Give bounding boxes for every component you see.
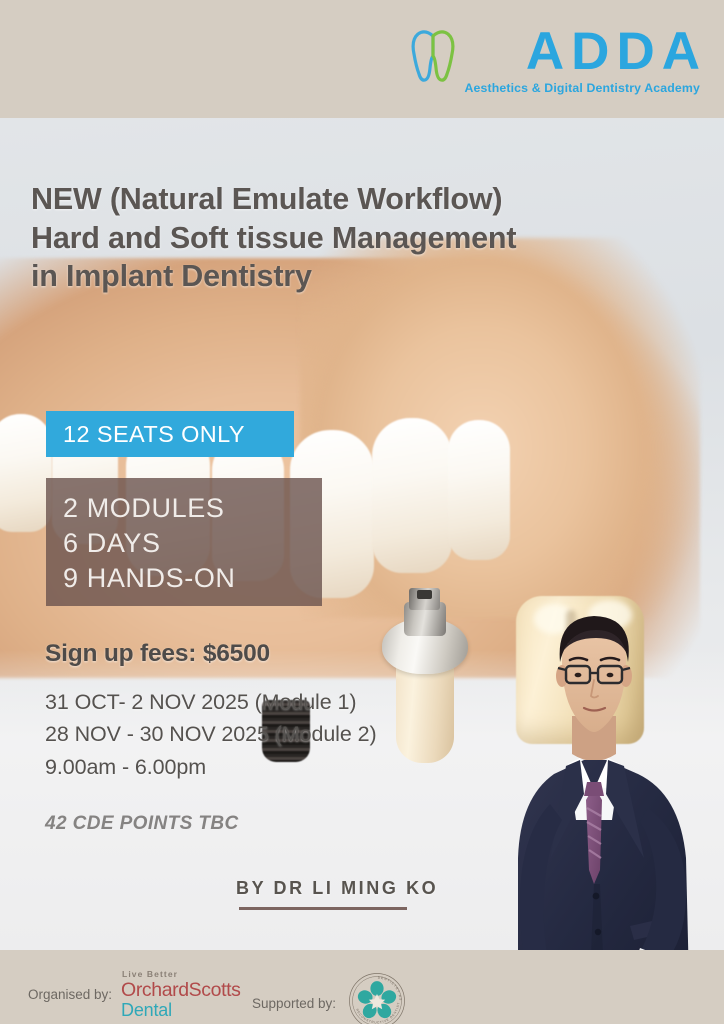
seats-badge-label: 12 SEATS ONLY [46, 421, 245, 448]
tooth-model [372, 418, 452, 573]
adda-logo: ADDA Aesthetics & Digital Dentistry Acad… [410, 26, 700, 95]
handson-count: 9 HANDS-ON [46, 561, 322, 596]
logo-tagline: Aesthetics & Digital Dentistry Academy [464, 81, 700, 95]
tooth-model [0, 414, 52, 532]
seats-badge: 12 SEATS ONLY [46, 411, 294, 457]
orchardscotts-name: OrchardScotts [121, 981, 240, 1001]
modules-count: 2 MODULES [46, 491, 322, 526]
footer-band: Organised by: Live Better OrchardScotts … [0, 950, 724, 1024]
organiser-block: Organised by: Live Better OrchardScotts … [28, 970, 240, 1019]
supporter-block: Supported by: DENTISTRY ASSOCIATION OF T… [252, 976, 406, 1024]
title-line-3: in Implant Dentistry [31, 257, 699, 296]
poster-canvas: ADDA Aesthetics & Digital Dentistry Acad… [0, 0, 724, 1024]
page-title: NEW (Natural Emulate Workflow) Hard and … [31, 180, 699, 296]
orchardscotts-logo: Live Better OrchardScotts Dental [121, 970, 240, 1019]
date-module-1: 31 OCT- 2 NOV 2025 (Module 1) [45, 686, 377, 718]
course-time: 9.00am - 6.00pm [45, 751, 377, 783]
title-line-2: Hard and Soft tissue Management [31, 219, 699, 258]
date-module-2: 28 NOV - 30 NOV 2025 (Module 2) [45, 718, 377, 750]
tooth-model [448, 420, 510, 560]
signup-fees: Sign up fees: $6500 [45, 640, 270, 668]
organised-by-label: Organised by: [28, 987, 112, 1002]
supported-by-label: Supported by: [252, 996, 336, 1011]
header-band: ADDA Aesthetics & Digital Dentistry Acad… [0, 0, 724, 118]
abutment-screw-hole [417, 590, 432, 599]
flower-seal-icon: DENTISTRY ASSOCIATION OF TAIWAN RECONSTR… [348, 972, 406, 1024]
presenter-name: BY DR LI MING KO [236, 878, 438, 899]
tooth-icon [410, 28, 456, 84]
logo-wordmark: ADDA [526, 26, 707, 78]
orchardscotts-tagline: Live Better [122, 970, 240, 979]
course-dates: 31 OCT- 2 NOV 2025 (Module 1) 28 NOV - 3… [45, 686, 377, 783]
byline-underline [239, 907, 407, 910]
modules-summary-box: 2 MODULES 6 DAYS 9 HANDS-ON [46, 478, 322, 606]
title-line-1: NEW (Natural Emulate Workflow) [31, 180, 699, 219]
cde-points: 42 CDE POINTS TBC [45, 813, 239, 835]
orchardscotts-dental: Dental [121, 1001, 240, 1019]
days-count: 6 DAYS [46, 526, 322, 561]
presenter-byline: BY DR LI MING KO [236, 878, 438, 910]
